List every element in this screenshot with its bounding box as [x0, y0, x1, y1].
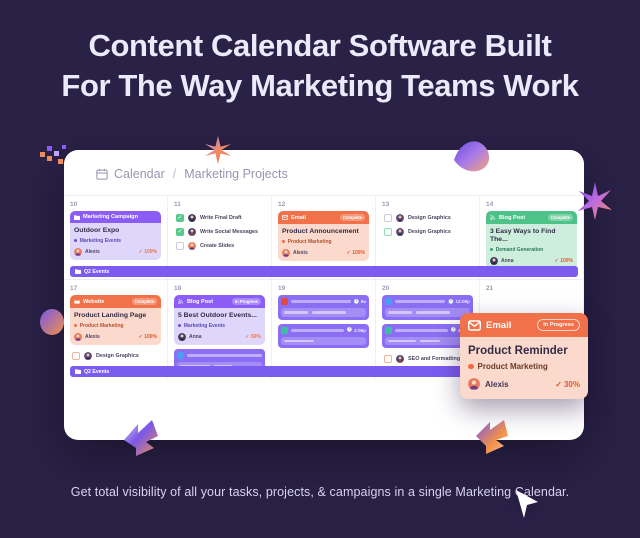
cursor-pointer-icon [512, 488, 542, 528]
timed-event-subrow [281, 308, 366, 317]
breadcrumb-current[interactable]: Marketing Projects [184, 167, 288, 181]
featured-event-assignee: Alexis [485, 380, 509, 389]
calendar-icon [96, 168, 108, 180]
event-time-value: 12:06p [455, 299, 470, 304]
event-tag-label: Product Marketing [80, 323, 124, 329]
event-progress-value: 100% [352, 250, 365, 256]
event-tag: Product Marketing [74, 323, 157, 329]
avatar [84, 352, 92, 360]
checkbox-icon[interactable] [176, 242, 184, 250]
check-icon: ✓ [139, 334, 143, 340]
window-icon [74, 299, 80, 304]
event-card-blog-post-3-easy-ways[interactable]: Blog Post Complete 3 Easy Ways to Find T… [486, 211, 577, 269]
day-number: 19 [278, 285, 369, 292]
task-label: SEO and Formatting [408, 356, 460, 362]
task-row[interactable]: Design Graphics [382, 225, 473, 239]
event-progress-value: 100% [144, 249, 157, 255]
breadcrumb-separator: / [173, 167, 176, 181]
clock-icon: 🕐 [354, 299, 360, 305]
tag-dot-icon [74, 324, 77, 327]
day-number: 12 [278, 201, 369, 208]
checkbox-icon[interactable] [384, 228, 392, 236]
status-badge: In Progress [537, 319, 580, 331]
breadcrumb-root[interactable]: Calendar [114, 167, 165, 181]
status-badge: In Progress [232, 298, 261, 305]
mail-icon [282, 215, 288, 220]
timed-event-subrow [385, 337, 470, 346]
placeholder-bar [388, 340, 416, 343]
task-row[interactable]: Write Final Draft [174, 211, 265, 225]
span-bar-q2-events[interactable]: Q2 Events [70, 266, 578, 277]
day-cell-19[interactable]: 19 🕐9a 🕐4:05 [272, 280, 376, 379]
featured-event-card[interactable]: Email In Progress Product Reminder Produ… [460, 313, 588, 399]
placeholder-bar [284, 311, 308, 314]
event-tag: Product Marketing [282, 239, 365, 245]
event-progress: ✓100% [555, 258, 574, 264]
timed-event-subrow [385, 308, 470, 317]
day-cell-17[interactable]: 17 Website Complete Product Landing Page… [64, 280, 168, 379]
status-badge: Complete [132, 298, 157, 305]
event-progress: ✓100% [347, 250, 366, 256]
app-icon [177, 352, 184, 359]
day-number: 11 [174, 201, 265, 208]
featured-event-progress: ✓ 30% [555, 380, 580, 389]
event-assignee: Anna [501, 258, 514, 264]
event-assignee: Alexis [85, 249, 100, 255]
checkbox-checked-icon[interactable] [176, 214, 184, 222]
footer-caption: Get total visibility of all your tasks, … [0, 485, 640, 499]
task-label: Create Slides [200, 243, 234, 249]
event-tag-label: Demand Generation [496, 247, 544, 253]
tag-dot-icon [490, 248, 493, 251]
day-number: 14 [486, 201, 577, 208]
event-tag: Marketing Events [178, 323, 261, 329]
left-blob-decoration [38, 308, 66, 336]
task-row[interactable]: Design Graphics [382, 211, 473, 225]
avatar [396, 355, 404, 363]
event-card-product-landing-page[interactable]: Website Complete Product Landing Page Pr… [70, 295, 161, 345]
checkbox-icon[interactable] [72, 352, 80, 360]
avatar [282, 249, 290, 257]
featured-event-progress-value: 30% [564, 380, 580, 389]
calendar-week-1: 10 Marketing Campaign Outdoor Expo Marke… [64, 195, 584, 279]
featured-card-header: Email In Progress [460, 313, 588, 337]
headline-line-1: Content Calendar Software Built [89, 28, 552, 63]
app-icon [281, 298, 288, 305]
headline-line-2: For The Way Marketing Teams Work [0, 66, 640, 106]
app-icon [385, 298, 392, 305]
avatar [468, 378, 480, 390]
checkbox-icon[interactable] [384, 214, 392, 222]
avatar [396, 214, 404, 222]
checkbox-checked-icon[interactable] [176, 228, 184, 236]
event-assignee: Alexis [85, 334, 100, 340]
placeholder-bar [187, 354, 262, 357]
check-icon: ✓ [555, 380, 562, 389]
day-number: 10 [70, 201, 161, 208]
event-title: 5 Best Outdoor Events... [178, 312, 261, 320]
event-card-outdoor-expo[interactable]: Marketing Campaign Outdoor Expo Marketin… [70, 211, 161, 260]
task-row[interactable]: Write Social Messages [174, 225, 265, 239]
clock-icon: 🕐 [451, 327, 457, 333]
day-cell-18[interactable]: 18 Blog Post In Progress 5 Best Outdoor … [168, 280, 272, 379]
folder-icon [74, 215, 80, 220]
check-icon: ✓ [245, 334, 249, 340]
day-number: 21 [486, 285, 577, 292]
event-type-label: Website [83, 299, 104, 305]
app-icon [385, 327, 392, 334]
featured-event-title: Product Reminder [468, 345, 580, 357]
event-type-label: Marketing Campaign [83, 214, 138, 220]
event-title: Outdoor Expo [74, 227, 157, 235]
span-bar-label: Q2 Events [84, 369, 109, 375]
check-icon: ✓ [139, 249, 143, 255]
event-progress-value: 50% [251, 334, 261, 340]
featured-event-tag: Product Marketing [468, 362, 580, 371]
avatar [188, 214, 196, 222]
breadcrumb: Calendar / Marketing Projects [64, 150, 584, 181]
check-icon: ✓ [347, 250, 351, 256]
tag-dot-icon [282, 240, 285, 243]
event-assignee: Anna [189, 334, 202, 340]
placeholder-bar [395, 329, 448, 332]
event-tag: Marketing Events [74, 238, 157, 244]
day-number: 13 [382, 201, 473, 208]
timed-event-block[interactable]: 🕐9a [278, 295, 369, 320]
day-number: 17 [70, 285, 161, 292]
task-label: Write Final Draft [200, 215, 242, 221]
checkbox-icon[interactable] [384, 355, 392, 363]
event-progress: ✓100% [139, 249, 158, 255]
event-tag-label: Marketing Events [80, 238, 121, 244]
featured-event-tag-label: Product Marketing [478, 362, 548, 371]
avatar [188, 228, 196, 236]
avatar [396, 228, 404, 236]
event-time-value: 9a [361, 299, 366, 304]
day-number: 18 [174, 285, 265, 292]
event-title: 3 Easy Ways to Find The... [490, 228, 573, 244]
event-time: 🕐9a [354, 299, 366, 305]
event-tag: Demand Generation [490, 247, 573, 253]
placeholder-bar [291, 300, 351, 303]
app-preview-stage: Calendar / Marketing Projects 10 Marketi… [0, 130, 640, 460]
timed-event-block[interactable]: 🕐12:06p [382, 295, 473, 320]
placeholder-bar [291, 329, 344, 332]
event-card-product-announcement[interactable]: Email Complete Product Announcement Prod… [278, 211, 369, 261]
featured-card-body: Product Reminder Product Marketing Alexi… [460, 337, 588, 399]
placeholder-bar [284, 340, 314, 343]
avatar [490, 257, 498, 265]
rss-icon [490, 215, 496, 220]
event-type-label: Email [291, 215, 306, 221]
event-progress: ✓50% [245, 334, 261, 340]
check-icon: ✓ [555, 258, 559, 264]
folder-icon [75, 269, 81, 274]
task-label: Design Graphics [408, 215, 451, 221]
tag-dot-icon [74, 239, 77, 242]
event-type-label: Blog Post [187, 299, 213, 305]
rss-icon [178, 299, 184, 304]
event-time: 🕐12:06p [448, 299, 470, 305]
event-card-5-best-outdoor-events[interactable]: Blog Post In Progress 5 Best Outdoor Eve… [174, 295, 265, 345]
timed-event-block[interactable]: 🕐4:05p [278, 324, 369, 349]
task-row[interactable]: Create Slides [174, 239, 265, 253]
status-badge: Complete [548, 214, 573, 221]
clock-icon: 🕐 [448, 299, 454, 305]
event-time: 🕐4:05p [347, 327, 366, 333]
event-tag-label: Product Marketing [288, 239, 332, 245]
timed-event-subrow [281, 337, 366, 346]
placeholder-bar [420, 340, 440, 343]
clock-icon: 🕐 [347, 327, 353, 333]
event-progress-value: 100% [560, 258, 573, 264]
avatar [74, 333, 82, 341]
day-number: 20 [382, 285, 473, 292]
avatar [74, 248, 82, 256]
placeholder-bar [388, 311, 412, 314]
event-progress-value: 100% [144, 334, 157, 340]
event-type-label: Blog Post [499, 215, 525, 221]
event-title: Product Announcement [282, 228, 365, 236]
avatar [178, 333, 186, 341]
task-label: Write Social Messages [200, 229, 258, 235]
mail-icon [468, 320, 481, 331]
task-label: Design Graphics [96, 353, 139, 359]
event-title: Product Landing Page [74, 312, 157, 320]
tag-dot-icon [468, 364, 474, 370]
task-label: Design Graphics [408, 229, 451, 235]
event-progress: ✓100% [139, 334, 158, 340]
avatar [188, 242, 196, 250]
event-tag-label: Marketing Events [184, 323, 225, 329]
tag-dot-icon [178, 324, 181, 327]
span-bar-label: Q2 Events [84, 269, 109, 275]
status-badge: Complete [340, 214, 365, 221]
task-row[interactable]: Design Graphics [70, 349, 161, 363]
placeholder-bar [416, 311, 450, 314]
event-assignee: Alexis [293, 250, 308, 256]
page-title: Content Calendar Software Built For The … [0, 0, 640, 105]
featured-event-type: Email [486, 320, 511, 331]
folder-icon [75, 369, 81, 374]
event-time-value: 4:05p [354, 328, 366, 333]
app-icon [281, 327, 288, 334]
placeholder-bar [395, 300, 445, 303]
placeholder-bar [312, 311, 346, 314]
